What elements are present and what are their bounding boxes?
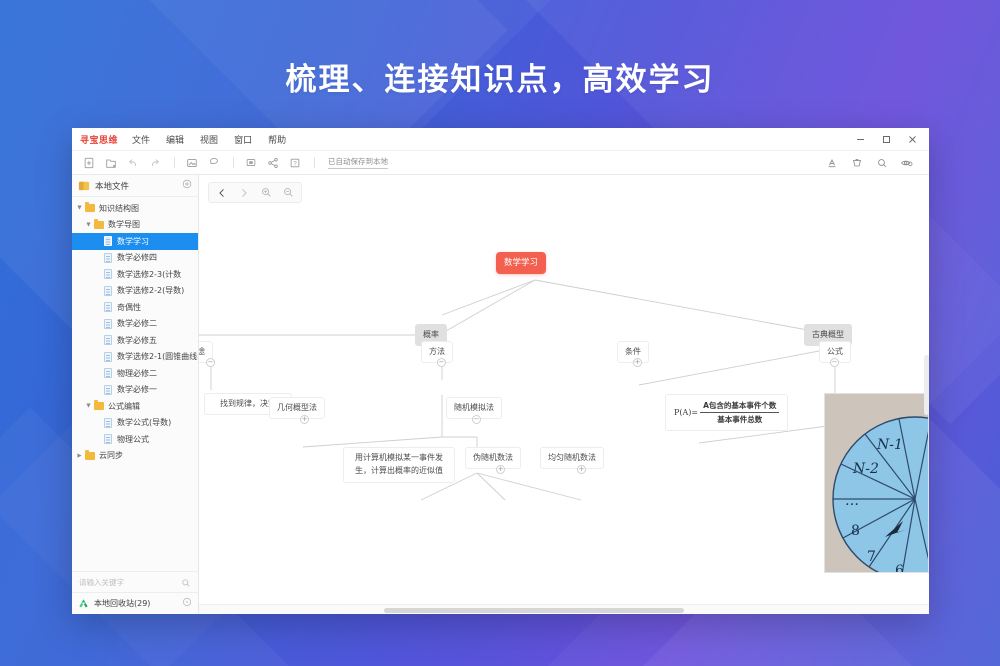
sidebar: 本地文件 ▼知识结构图▼数学导图数学学习数学必修四数学选修2-3(计数数学选修2… <box>72 175 199 614</box>
formula-numerator: A包含的基本事件个数 <box>700 400 779 413</box>
tree-item-label: 数学公式(导数) <box>117 417 171 428</box>
toggle-fangfa[interactable]: − <box>437 358 446 367</box>
tree-item[interactable]: 物理必修二 <box>72 365 198 382</box>
folder-icon <box>84 450 95 461</box>
chevron-right-icon[interactable]: ▶ <box>75 453 84 459</box>
formula-denominator: 基本事件总数 <box>714 413 765 425</box>
mindmap-connectors <box>199 175 929 614</box>
window-controls <box>847 128 925 151</box>
toggle-yongtu[interactable]: − <box>206 358 215 367</box>
toggle-suiji[interactable]: − <box>472 415 481 424</box>
document-icon <box>102 384 113 395</box>
mindmap-node-jihe[interactable]: 几何概型法 <box>269 397 325 419</box>
menu-help[interactable]: 帮助 <box>268 133 286 146</box>
folder-icon <box>93 401 104 412</box>
sidebar-search[interactable] <box>72 571 198 592</box>
document-icon <box>102 285 113 296</box>
toolbar-divider <box>174 157 175 168</box>
canvas-toolbar <box>208 182 302 203</box>
tree-item-label: 公式编辑 <box>108 401 140 412</box>
tree-item-label: 数学必修五 <box>117 335 157 346</box>
new-folder-icon[interactable] <box>101 155 120 171</box>
tree-item[interactable]: ▼公式编辑 <box>72 398 198 415</box>
recycle-bin-row[interactable]: 本地回收站(29) <box>72 592 198 614</box>
tree-item[interactable]: 数学必修二 <box>72 316 198 333</box>
toggle-tiaojian[interactable]: + <box>633 358 642 367</box>
tree-item-label: 奇偶性 <box>117 302 141 313</box>
tree-item-label: 知识结构图 <box>99 203 139 214</box>
app-window: 寻宝思维 文件 编辑 视图 窗口 帮助 <box>72 128 929 614</box>
insert-shape-icon[interactable] <box>204 155 223 171</box>
svg-text:6: 6 <box>895 563 904 573</box>
document-icon <box>102 417 113 428</box>
main-toolbar: ? 已自动保存到本地 <box>72 151 929 175</box>
document-icon <box>102 368 113 379</box>
local-folder-icon <box>78 180 90 191</box>
text-style-icon[interactable] <box>822 155 841 171</box>
document-icon <box>102 335 113 346</box>
view-icon[interactable] <box>897 155 916 171</box>
svg-text:7: 7 <box>867 549 876 565</box>
zoom-out-icon[interactable] <box>277 183 299 202</box>
tree-item-label: 数学必修二 <box>117 318 157 329</box>
mindmap-node-junyun[interactable]: 均匀随机数法 <box>540 447 604 469</box>
tree-item-label: 云同步 <box>99 450 123 461</box>
tree-item-label: 数学导图 <box>108 219 140 230</box>
probability-wheel-image[interactable]: N-1 N-2 … 8 7 6 <box>824 393 929 573</box>
more-circle-icon[interactable] <box>182 597 192 610</box>
autosave-status: 已自动保存到本地 <box>328 156 388 169</box>
forward-icon[interactable] <box>233 183 255 202</box>
new-file-icon[interactable] <box>79 155 98 171</box>
theme-icon[interactable] <box>847 155 866 171</box>
share-icon[interactable] <box>263 155 282 171</box>
tree-item[interactable]: ▼数学导图 <box>72 217 198 234</box>
recycle-bin-label: 本地回收站(29) <box>94 598 150 609</box>
chevron-down-icon[interactable]: ▼ <box>84 403 93 409</box>
plus-circle-icon[interactable] <box>182 179 192 192</box>
document-icon <box>102 302 113 313</box>
menu-view[interactable]: 视图 <box>200 133 218 146</box>
title-bar: 寻宝思维 文件 编辑 视图 窗口 帮助 <box>72 128 929 151</box>
close-button[interactable] <box>899 128 925 151</box>
tree-item[interactable]: 奇偶性 <box>72 299 198 316</box>
tree-item[interactable]: 数学必修四 <box>72 250 198 267</box>
insert-image-icon[interactable] <box>182 155 201 171</box>
document-icon <box>102 351 113 362</box>
folder-icon <box>84 203 95 214</box>
tree-item-label: 数学选修2-2(导数) <box>117 285 184 296</box>
document-icon <box>102 236 113 247</box>
svg-text:…: … <box>845 493 859 509</box>
tree-item-label: 数学必修一 <box>117 384 157 395</box>
svg-text:N-1: N-1 <box>876 437 903 453</box>
toolbar-right-group <box>822 155 922 171</box>
tree-item[interactable]: 数学公式(导数) <box>72 415 198 432</box>
tree-item-label: 物理必修二 <box>117 368 157 379</box>
mindmap-node-root[interactable]: 数学学习 <box>496 252 546 274</box>
mindmap-node-formula[interactable]: P(A)= A包含的基本事件个数 基本事件总数 <box>665 394 788 431</box>
toggle-junyun[interactable]: + <box>577 465 586 474</box>
search-input[interactable] <box>79 578 181 587</box>
tree-item[interactable]: 数学选修2-1(圆锥曲线、 <box>72 349 198 366</box>
horizontal-scrollbar[interactable] <box>199 604 929 614</box>
svg-text:8: 8 <box>851 523 860 539</box>
chevron-down-icon[interactable]: ▼ <box>75 205 84 211</box>
sidebar-header[interactable]: 本地文件 <box>72 175 198 197</box>
formula-fraction: A包含的基本事件个数 基本事件总数 <box>700 400 779 425</box>
search-icon[interactable] <box>181 573 191 592</box>
tree-item-label: 数学选修2-1(圆锥曲线、 <box>117 351 198 362</box>
tree-item[interactable]: ▼知识结构图 <box>72 200 198 217</box>
comment-icon[interactable] <box>241 155 260 171</box>
vertical-scrollbar[interactable] <box>924 355 929 415</box>
menu-edit[interactable]: 编辑 <box>166 133 184 146</box>
back-icon[interactable] <box>211 183 233 202</box>
toggle-gongshi[interactable]: − <box>830 358 839 367</box>
sidebar-header-label: 本地文件 <box>95 180 129 192</box>
formula-lhs: P(A)= <box>674 408 698 417</box>
tree-item[interactable]: 数学必修五 <box>72 332 198 349</box>
tree-item-label: 物理公式 <box>117 434 149 445</box>
menu-file[interactable]: 文件 <box>132 133 150 146</box>
mindmap-node-weisuiji[interactable]: 伪随机数法 <box>465 447 521 469</box>
help-icon[interactable]: ? <box>285 155 304 171</box>
tree-item[interactable]: 数学必修一 <box>72 382 198 399</box>
maximize-button[interactable] <box>873 128 899 151</box>
scrollbar-thumb[interactable] <box>384 608 684 613</box>
toolbar-divider <box>233 157 234 168</box>
toolbar-divider <box>314 157 315 168</box>
undo-icon[interactable] <box>123 155 142 171</box>
app-logo: 寻宝思维 <box>80 133 118 146</box>
tree-item[interactable]: ▶云同步 <box>72 448 198 465</box>
promo-headline: 梳理、连接知识点，高效学习 <box>0 54 1000 99</box>
recycle-icon <box>78 598 89 609</box>
toggle-jihe[interactable]: + <box>300 415 309 424</box>
app-body: 本地文件 ▼知识结构图▼数学导图数学学习数学必修四数学选修2-3(计数数学选修2… <box>72 175 929 614</box>
tree-item[interactable]: 数学选修2-3(计数 <box>72 266 198 283</box>
document-icon <box>102 434 113 445</box>
svg-text:N-2: N-2 <box>852 461 879 477</box>
document-icon <box>102 318 113 329</box>
folder-icon <box>93 219 104 230</box>
search-icon[interactable] <box>872 155 891 171</box>
mindmap-canvas[interactable]: 数学学习 概率 − 古典概型 − 用途 − 方法 − 条件 + 公式 − 找到规… <box>199 175 929 614</box>
tree-item-label: 数学选修2-3(计数 <box>117 269 181 280</box>
tree-item-label: 数学学习 <box>117 236 149 247</box>
zoom-in-icon[interactable] <box>255 183 277 202</box>
document-icon <box>102 269 113 280</box>
document-icon <box>102 252 113 263</box>
tree-item[interactable]: 数学学习 <box>72 233 198 250</box>
tree-item[interactable]: 物理公式 <box>72 431 198 448</box>
toggle-weisuiji[interactable]: + <box>496 465 505 474</box>
menu-window[interactable]: 窗口 <box>234 133 252 146</box>
redo-icon[interactable] <box>145 155 164 171</box>
file-tree: ▼知识结构图▼数学导图数学学习数学必修四数学选修2-3(计数数学选修2-2(导数… <box>72 197 198 571</box>
tree-item[interactable]: 数学选修2-2(导数) <box>72 283 198 300</box>
tree-item-label: 数学必修四 <box>117 252 157 263</box>
promo-background: 梳理、连接知识点，高效学习 寻宝思维 文件 编辑 视图 窗口 帮助 <box>0 0 1000 666</box>
mindmap-node-jisuanji[interactable]: 用计算机模拟某一事件发生，计算出概率的近似值 <box>343 447 455 483</box>
chevron-down-icon[interactable]: ▼ <box>84 222 93 228</box>
minimize-button[interactable] <box>847 128 873 151</box>
